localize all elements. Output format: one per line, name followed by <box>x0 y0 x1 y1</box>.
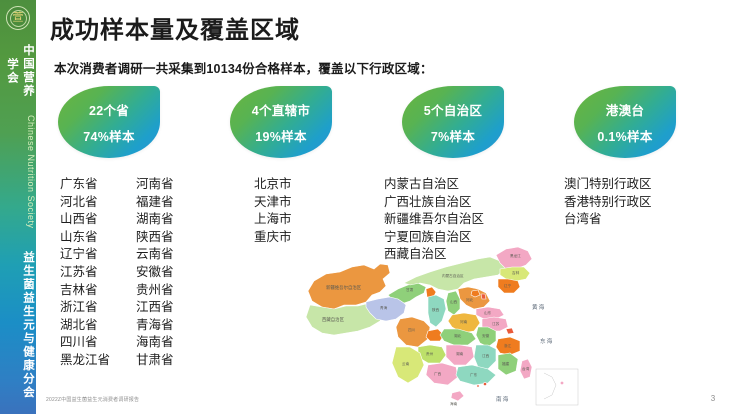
map-region-macau <box>477 385 479 387</box>
list-item: 广西壮族自治区 <box>384 194 484 212</box>
list-item: 黑龙江省 <box>60 352 110 370</box>
list-item: 甘肃省 <box>136 352 174 370</box>
list-item: 福建省 <box>136 194 174 212</box>
summary-badges: 22个省 74%样本 4个直辖市 19%样本 5个自治区 7%样本 港澳台 0.… <box>36 86 735 168</box>
list-item: 辽宁省 <box>60 246 110 264</box>
list-item: 河北省 <box>60 194 110 212</box>
list-item: 新疆维吾尔自治区 <box>384 211 484 229</box>
map-label-hunan: 湖南 <box>456 351 464 356</box>
map-label-yunnan: 云南 <box>402 361 410 366</box>
map-label-guangdong: 广东 <box>470 372 478 377</box>
list-item: 海南省 <box>136 334 174 352</box>
list-item: 吉林省 <box>60 282 110 300</box>
list-item: 澳门特别行政区 <box>564 176 652 194</box>
brand-name-cn: 中国营养学会 <box>0 38 36 104</box>
china-map-illustration: 黄海 东海 南海 新疆维吾尔自治区 西藏自治区 青海 甘肃 内蒙古自治区 黑龙江… <box>300 243 630 408</box>
badge-count: 5个自治区 <box>424 100 482 119</box>
badge-autonomous-regions: 5个自治区 7%样本 <box>402 86 504 158</box>
municipality-list: 北京市 天津市 上海市 重庆市 <box>254 176 292 246</box>
map-region-hongkong <box>483 382 486 385</box>
list-item: 台湾省 <box>564 211 652 229</box>
list-item: 云南省 <box>136 246 174 264</box>
china-map-svg: 黄海 东海 南海 新疆维吾尔自治区 西藏自治区 青海 甘肃 内蒙古自治区 黑龙江… <box>300 243 630 408</box>
list-item: 湖南省 <box>136 211 174 229</box>
list-item: 重庆市 <box>254 229 292 247</box>
map-label-shanxi: 山西 <box>450 299 458 304</box>
map-label-gansu: 甘肃 <box>406 287 414 292</box>
list-item: 江苏省 <box>60 264 110 282</box>
list-item: 安徽省 <box>136 264 174 282</box>
list-item: 贵州省 <box>136 282 174 300</box>
map-region-hainan <box>451 391 464 401</box>
list-item: 上海市 <box>254 211 292 229</box>
map-inset-island <box>561 382 564 385</box>
special-region-list: 澳门特别行政区 香港特别行政区 台湾省 <box>564 176 652 229</box>
list-item: 北京市 <box>254 176 292 194</box>
map-label-taiwan: 台湾 <box>522 366 530 371</box>
map-label-henan: 河南 <box>460 319 468 324</box>
map-region-sichuan <box>396 317 430 347</box>
slide-canvas: 萱 中国营养学会 Chinese Nutrition Society 益生菌益生… <box>0 0 735 414</box>
map-label-inner-mongolia: 内蒙古自治区 <box>442 273 464 278</box>
map-label-zhejiang: 浙江 <box>504 343 512 348</box>
map-label-qinghai: 青海 <box>380 305 388 310</box>
list-item: 江西省 <box>136 299 174 317</box>
badge-municipalities: 4个直辖市 19%样本 <box>230 86 332 158</box>
map-region-shanghai <box>506 328 514 334</box>
map-region-guangxi <box>426 363 458 385</box>
brand-division-cn: 益生菌益生元与健康分会 <box>0 250 36 400</box>
list-item: 湖北省 <box>60 317 110 335</box>
map-label-tibet: 西藏自治区 <box>322 316 345 323</box>
society-logo-icon: 萱 <box>6 6 30 30</box>
badge-count: 4个直辖市 <box>252 100 310 119</box>
map-sea-label-donghai: 东海 <box>540 337 553 345</box>
badge-share: 7%样本 <box>431 126 475 145</box>
list-item: 山东省 <box>60 229 110 247</box>
map-region-tianjin <box>481 294 486 299</box>
map-label-sichuan: 四川 <box>408 328 416 332</box>
map-label-shandong: 山东 <box>484 310 492 315</box>
map-label-liaoning: 辽宁 <box>504 283 512 288</box>
list-item: 广东省 <box>60 176 110 194</box>
map-sea-label-huanghai: 黄海 <box>532 303 545 311</box>
map-label-shaanxi: 陕西 <box>432 307 440 312</box>
brand-sidebar: 萱 中国营养学会 Chinese Nutrition Society 益生菌益生… <box>0 0 36 414</box>
map-label-jiangxi: 江西 <box>482 353 490 358</box>
map-label-hebei: 河北 <box>466 297 474 302</box>
map-inset-box <box>536 369 578 405</box>
map-label-hainan: 海南 <box>450 401 458 406</box>
province-list-col-1: 广东省 河北省 山西省 山东省 辽宁省 江苏省 吉林省 浙江省 湖北省 四川省 … <box>60 176 110 370</box>
footer-report-name: 2022Z中国益生菌益生元消费者调研报告 <box>46 396 139 403</box>
map-label-anhui: 安徽 <box>482 333 490 338</box>
badge-share: 74%样本 <box>83 126 135 145</box>
badge-count: 港澳台 <box>606 100 644 119</box>
map-label-fujian: 福建 <box>502 361 510 366</box>
list-item: 陕西省 <box>136 229 174 247</box>
list-item: 浙江省 <box>60 299 110 317</box>
map-label-jiangsu: 江苏 <box>492 321 500 326</box>
badge-share: 0.1%样本 <box>597 126 652 145</box>
page-number: 3 <box>705 394 721 403</box>
list-item: 香港特别行政区 <box>564 194 652 212</box>
list-item: 四川省 <box>60 334 110 352</box>
map-sea-label-nanhai: 南海 <box>496 395 509 403</box>
map-label-jilin: 吉林 <box>512 270 520 275</box>
brand-name-en: Chinese Nutrition Society <box>0 112 36 232</box>
page-title: 成功样本量及覆盖区域 <box>50 10 300 45</box>
map-label-heilongjiang: 黑龙江 <box>510 253 521 258</box>
wheat-glyph: 萱 <box>13 13 24 24</box>
list-item: 青海省 <box>136 317 174 335</box>
map-label-guizhou: 贵州 <box>426 351 434 356</box>
map-label-guangxi: 广西 <box>434 371 442 376</box>
badge-share: 19%样本 <box>255 126 307 145</box>
list-item: 河南省 <box>136 176 174 194</box>
list-item: 山西省 <box>60 211 110 229</box>
map-label-xinjiang: 新疆维吾尔自治区 <box>326 284 362 291</box>
badge-count: 22个省 <box>89 100 129 119</box>
list-item: 天津市 <box>254 194 292 212</box>
badge-hk-macau-taiwan: 港澳台 0.1%样本 <box>574 86 676 158</box>
province-list-col-2: 河南省 福建省 湖南省 陕西省 云南省 安徽省 贵州省 江西省 青海省 海南省 … <box>136 176 174 370</box>
map-label-hubei: 湖北 <box>454 333 462 338</box>
badge-provinces: 22个省 74%样本 <box>58 86 160 158</box>
list-item: 内蒙古自治区 <box>384 176 484 194</box>
page-subtitle: 本次消费者调研一共采集到10134份合格样本，覆盖以下行政区域： <box>54 58 433 77</box>
